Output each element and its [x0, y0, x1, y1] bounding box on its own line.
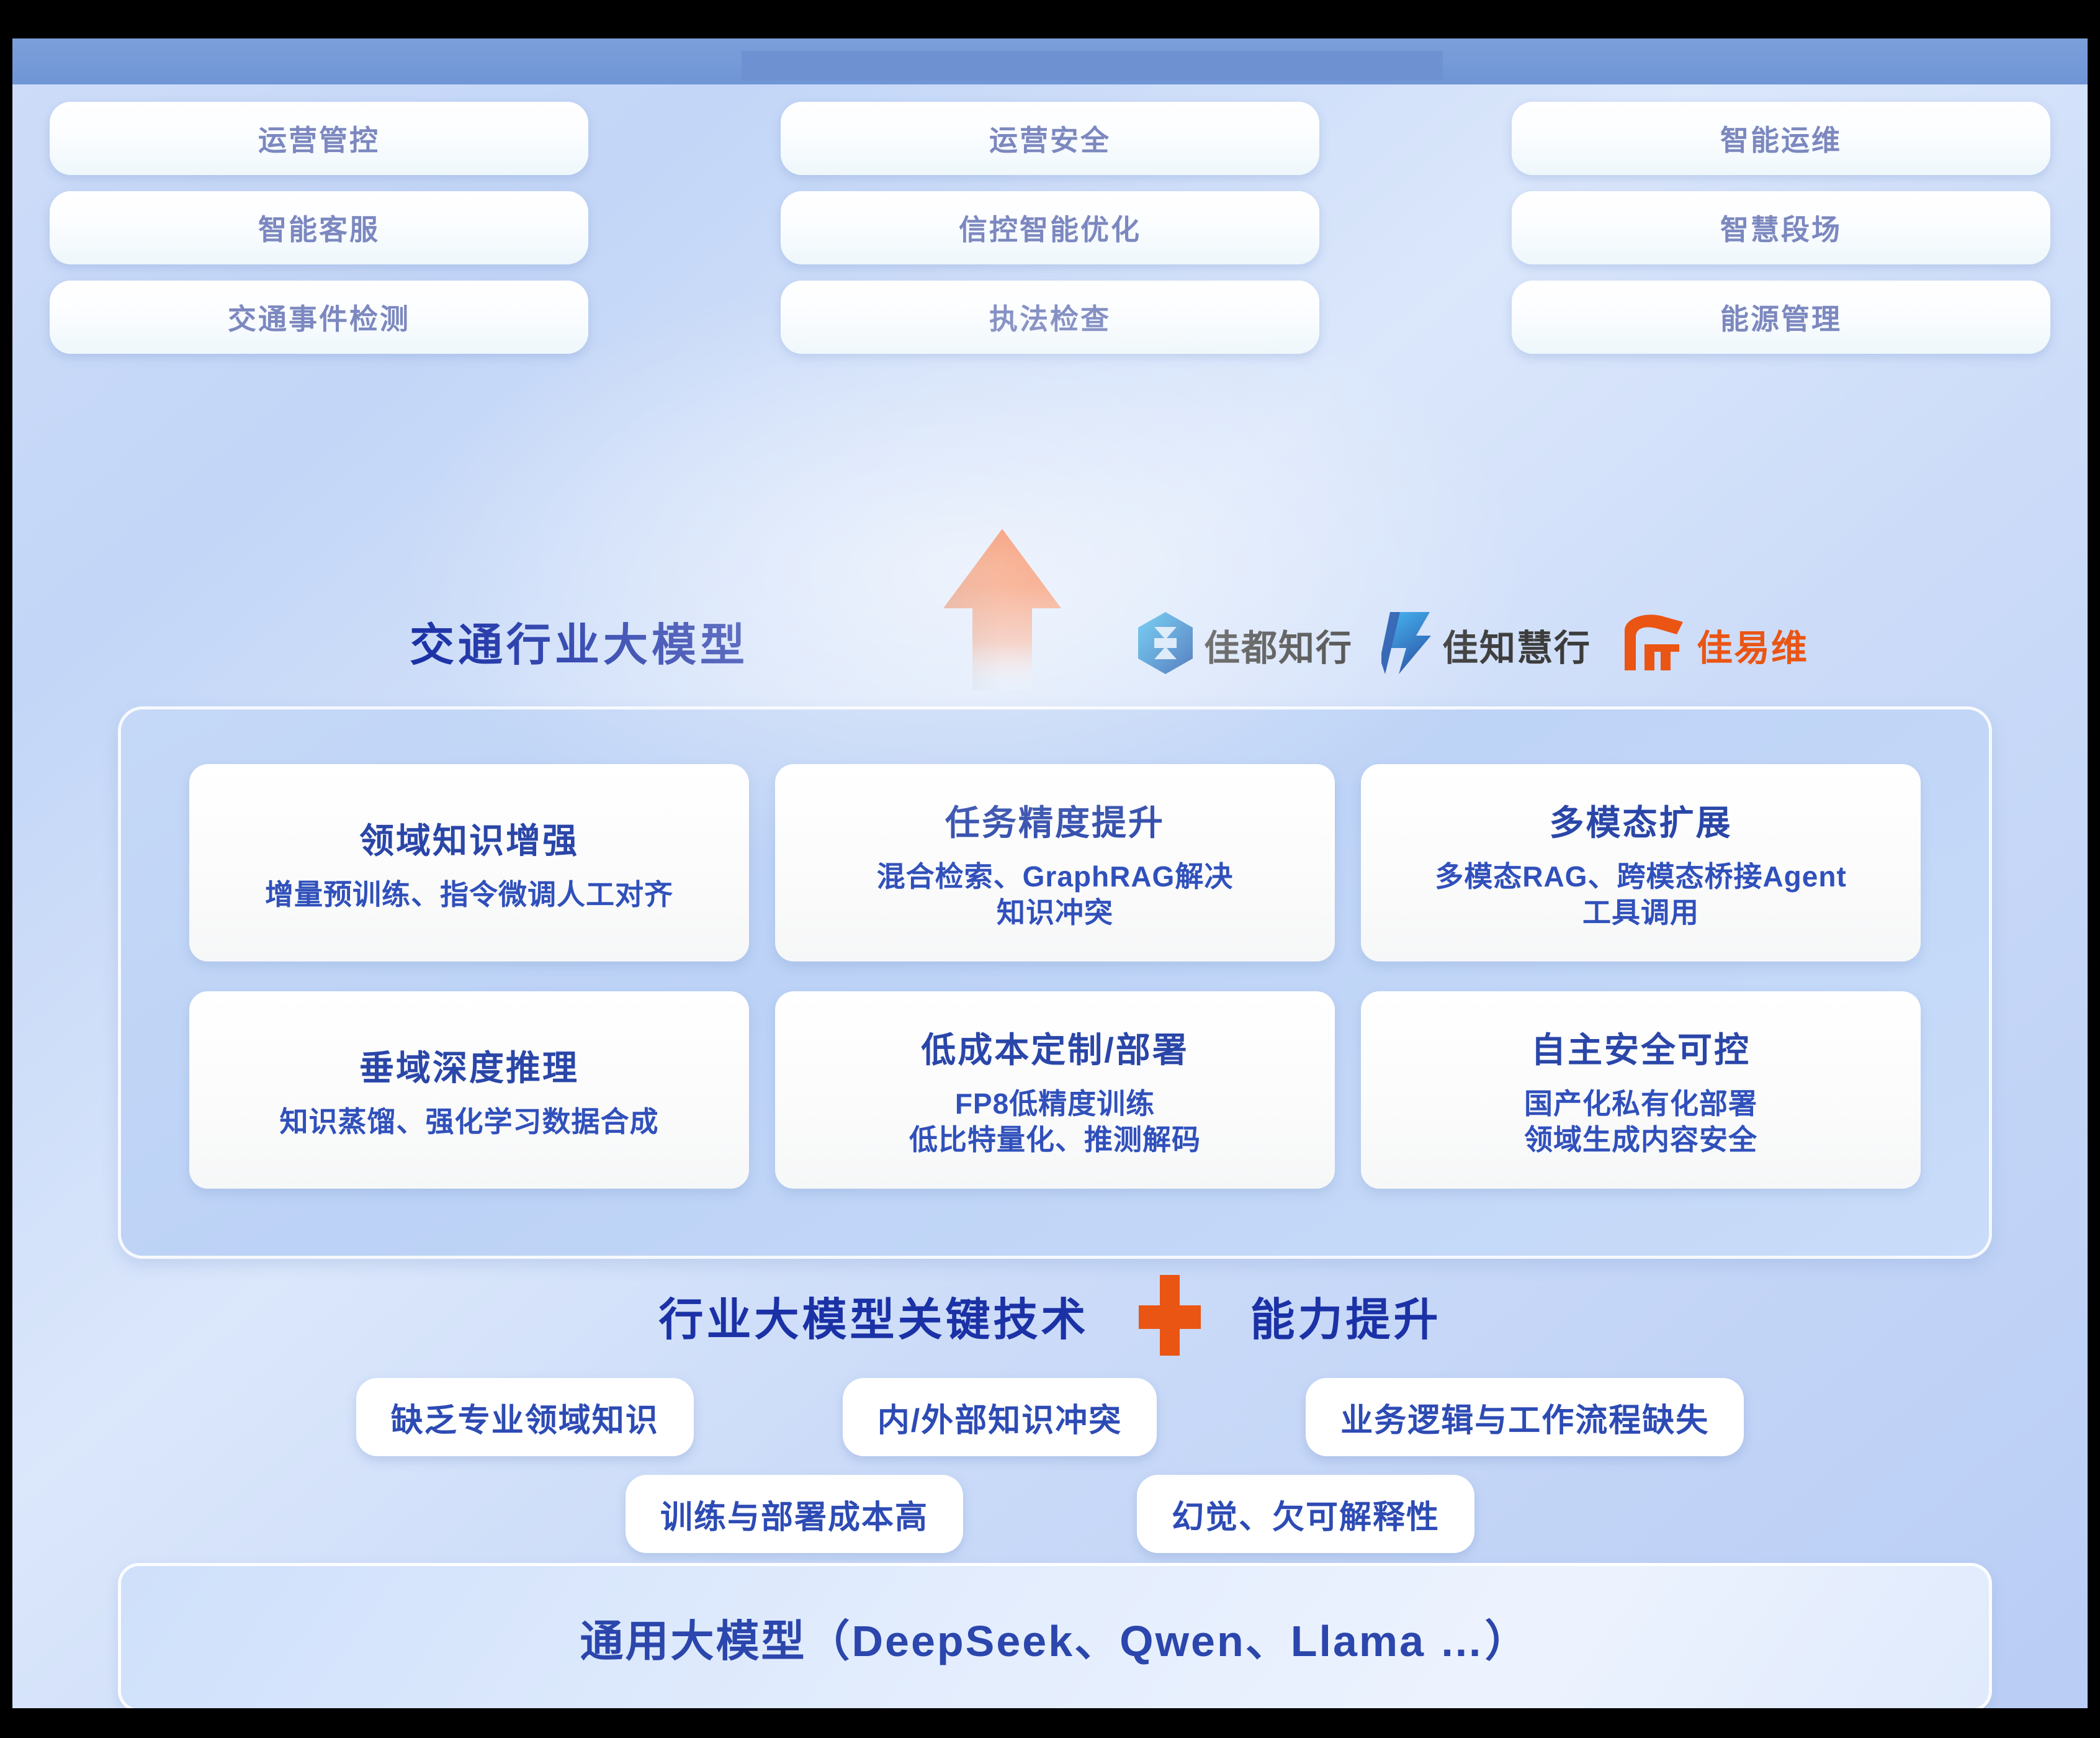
brand-logo-group: 佳都知行 佳知慧行 [1136, 611, 1808, 678]
jiazhi-huixing-bolt-icon [1381, 611, 1434, 678]
tech-card-task-accuracy[interactable]: 任务精度提升 混合检索、GraphRAG解决知识冲突 [775, 764, 1335, 961]
problem-pill-label: 业务逻辑与工作流程缺失 [1340, 1394, 1709, 1441]
app-pill-smart-service[interactable]: 智能客服 [50, 191, 588, 264]
tech-card-domain-knowledge[interactable]: 领域知识增强 增量预训练、指令微调人工对齐 [189, 764, 749, 961]
problem-pill-lacks-domain-knowledge[interactable]: 缺乏专业领域知识 [356, 1378, 694, 1456]
app-pill-energy-management[interactable]: 能源管理 [1512, 281, 2050, 354]
app-pill-intelligent-ops[interactable]: 智能运维 [1512, 102, 2050, 175]
problem-pill-hallucination[interactable]: 幻觉、欠可解释性 [1137, 1475, 1474, 1553]
problem-pill-label: 内/外部知识冲突 [877, 1394, 1122, 1441]
brand-logo-jiadu-zhixing: 佳都知行 [1136, 611, 1353, 678]
section-label-row: 行业大模型关键技术 能力提升 [12, 1269, 2088, 1362]
brand-logo-jiazhi-huixing: 佳知慧行 [1381, 611, 1591, 678]
problem-pill-group: 缺乏专业领域知识 内/外部知识冲突 业务逻辑与工作流程缺失 训练与部署成本高 幻… [12, 1378, 2088, 1553]
tech-card-low-cost-deployment[interactable]: 低成本定制/部署 FP8低精度训练低比特量化、推测解码 [775, 991, 1335, 1189]
app-pill-signal-optimization[interactable]: 信控智能优化 [781, 191, 1319, 264]
app-pill-law-enforcement[interactable]: 执法检查 [781, 281, 1319, 354]
app-pill-label: 信控智能优化 [959, 207, 1141, 248]
problem-row-1: 缺乏专业领域知识 内/外部知识冲突 业务逻辑与工作流程缺失 [12, 1378, 2088, 1456]
key-tech-panel: 领域知识增强 增量预训练、指令微调人工对齐 任务精度提升 混合检索、GraphR… [118, 706, 1992, 1259]
brand-logo-label: 佳知慧行 [1442, 619, 1591, 671]
foundation-model-bar: 通用大模型（DeepSeek、Qwen、Llama …） [118, 1563, 1992, 1708]
tech-card-body: 国产化私有化部署领域生成内容安全 [1524, 1086, 1757, 1158]
problem-pill-knowledge-conflict[interactable]: 内/外部知识冲突 [843, 1378, 1157, 1456]
jiadu-zhixing-diamond-icon [1136, 611, 1195, 678]
top-blue-strip [12, 38, 2088, 88]
app-pill-label: 交通事件检测 [228, 297, 410, 338]
app-pill-operation-safety[interactable]: 运营安全 [781, 102, 1319, 175]
tech-card-body: FP8低精度训练低比特量化、推测解码 [909, 1086, 1201, 1158]
jiayiwei-icon [1620, 612, 1688, 677]
problem-pill-label: 缺乏专业领域知识 [391, 1394, 659, 1441]
brand-logo-label: 佳都知行 [1204, 619, 1353, 671]
tech-card-body: 多模态RAG、跨模态桥接Agent工具调用 [1435, 859, 1847, 931]
plus-icon [1133, 1275, 1207, 1356]
problem-pill-high-cost[interactable]: 训练与部署成本高 [626, 1475, 963, 1553]
top-center-tab [742, 51, 1443, 81]
tech-card-body: 增量预训练、指令微调人工对齐 [265, 877, 673, 913]
brand-logo-jiayiwei: 佳易维 [1620, 612, 1808, 677]
app-pill-operation-control[interactable]: 运营管控 [50, 102, 588, 175]
tech-card-vertical-reasoning[interactable]: 垂域深度推理 知识蒸馏、强化学习数据合成 [189, 991, 749, 1189]
problem-pill-label: 幻觉、欠可解释性 [1172, 1491, 1440, 1538]
headline-row: 交通行业大模型 佳都知 [12, 603, 2088, 678]
tech-card-body: 混合检索、GraphRAG解决知识冲突 [877, 859, 1234, 931]
app-pill-smart-depot[interactable]: 智慧段场 [1512, 191, 2050, 264]
app-pill-label: 智能客服 [258, 207, 380, 248]
slide-stage: 运营管控 运营安全 智能运维 智能客服 信控智能优化 智慧段场 交通事件检测 执… [12, 84, 2088, 1708]
plus-horizontal-bar [1139, 1305, 1201, 1329]
foundation-model-label: 通用大模型（DeepSeek、Qwen、Llama …） [580, 1606, 1530, 1669]
key-tech-section-label: 行业大模型关键技术 [658, 1283, 1088, 1348]
app-pill-label: 智慧段场 [1720, 207, 1842, 248]
tech-card-title: 低成本定制/部署 [921, 1022, 1189, 1073]
brand-logo-label: 佳易维 [1697, 619, 1808, 671]
application-pill-grid: 运营管控 运营安全 智能运维 智能客服 信控智能优化 智慧段场 交通事件检测 执… [50, 102, 2050, 354]
app-pill-label: 运营管控 [258, 118, 380, 159]
problem-pill-label: 训练与部署成本高 [660, 1491, 928, 1538]
tech-card-autonomous-security[interactable]: 自主安全可控 国产化私有化部署领域生成内容安全 [1361, 991, 1921, 1189]
screenshot-frame: 运营管控 运营安全 智能运维 智能客服 信控智能优化 智慧段场 交通事件检测 执… [0, 0, 2100, 1738]
tech-card-body: 知识蒸馏、强化学习数据合成 [280, 1104, 659, 1140]
capability-section-label: 能力提升 [1250, 1283, 1442, 1348]
app-pill-label: 能源管理 [1720, 297, 1842, 338]
key-tech-card-grid: 领域知识增强 增量预训练、指令微调人工对齐 任务精度提升 混合检索、GraphR… [189, 764, 1921, 1189]
tech-card-title: 自主安全可控 [1531, 1022, 1751, 1073]
tech-card-multimodal[interactable]: 多模态扩展 多模态RAG、跨模态桥接Agent工具调用 [1361, 764, 1921, 961]
app-pill-traffic-incident[interactable]: 交通事件检测 [50, 281, 588, 354]
tech-card-title: 垂域深度推理 [359, 1040, 579, 1091]
problem-row-2: 训练与部署成本高 幻觉、欠可解释性 [12, 1475, 2088, 1553]
tech-card-title: 多模态扩展 [1550, 795, 1733, 845]
page-title: 交通行业大模型 [410, 608, 748, 673]
app-pill-label: 运营安全 [989, 118, 1111, 159]
app-pill-label: 智能运维 [1720, 118, 1842, 159]
tech-card-title: 任务精度提升 [945, 795, 1165, 845]
app-pill-label: 执法检查 [989, 297, 1111, 338]
problem-pill-missing-workflow[interactable]: 业务逻辑与工作流程缺失 [1306, 1378, 1744, 1456]
tech-card-title: 领域知识增强 [359, 813, 579, 863]
